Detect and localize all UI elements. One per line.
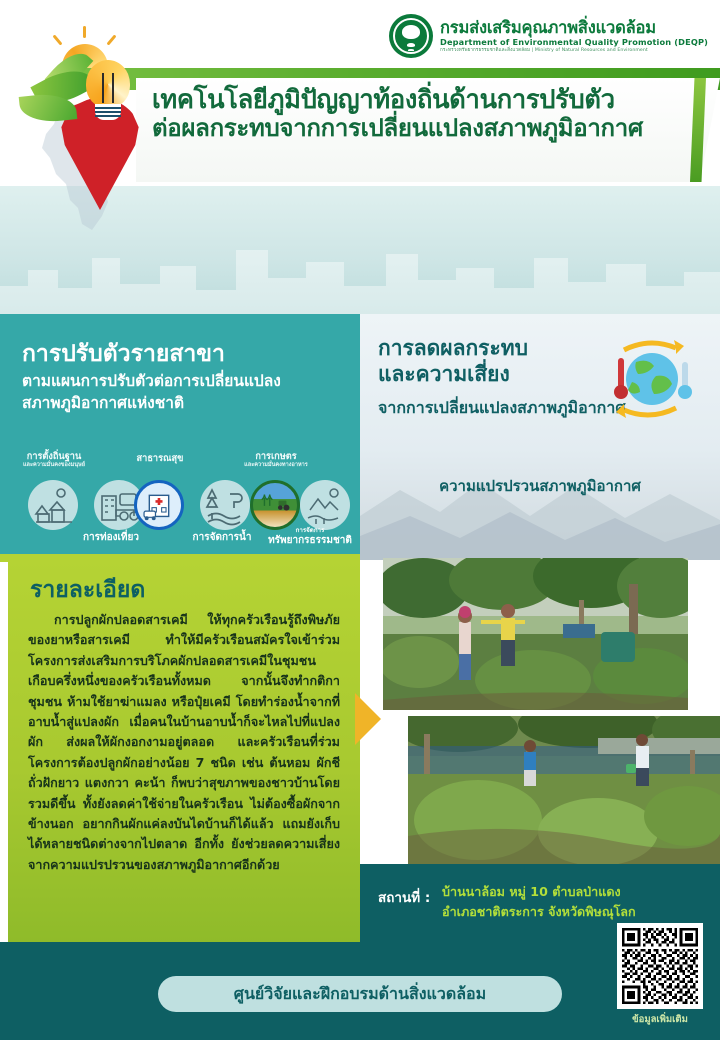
footer-organization-pill[interactable]: ศูนย์วิจัยและฝึกอบรมด้านสิ่งแวดล้อม [158,976,562,1012]
qr-code[interactable] [617,923,703,1009]
deqp-name-thai: กรมส่งเสริมคุณภาพสิ่งแวดล้อม [440,19,708,37]
sector-icons-row: การตั้งถิ่นฐาน และความมั่นคงของมนุษย์ กา… [0,452,360,560]
technology-logo [14,52,174,232]
sector-label-main: การจัดการน้ำ [168,532,276,543]
deqp-name-english: Department of Environmental Quality Prom… [440,38,708,47]
qr-code-caption: ข้อมูลเพิ่มเติม [617,1012,703,1027]
mitigation-panel-heading: การลดผลกระทบ และความเสี่ยง [378,336,528,387]
sector-label-sub: และความมั่นคงของมนุษย์ [4,462,104,468]
city-skyline-graphic [0,228,720,314]
arrow-right-icon [355,693,381,745]
photo-vegetable-garden-villagers [383,558,688,710]
details-panel: รายละเอียด การปลูกผักปลอดสารเคมี ให้ทุกค… [8,560,360,942]
water-management-icon[interactable] [200,480,250,530]
adaptation-panel-subheading: ตามแผนการปรับตัวต่อการเปลี่ยนแปลง สภาพภู… [22,370,352,415]
mitigation-panel: การลดผลกระทบ และความเสี่ยง จากการเปลี่ยน… [360,314,720,560]
mitigation-heading-line1: การลดผลกระทบ [378,336,528,362]
sector-label-natural-resources: การจัดการ ทรัพยากรธรรมชาติ [262,528,358,546]
poster-root: เทคโนโลยีภูมิปัญญาท้องถิ่นด้านการปรับตัว… [0,0,720,1040]
page-title-line2: ต่อผลกระทบจากการเปลี่ยนแปลงสภาพภูมิอากาศ [152,115,692,142]
sector-label-sub: และความมั่นคงทางอาหาร [222,462,330,468]
adaptation-subheading-line2: สภาพภูมิอากาศแห่งชาติ [22,394,184,412]
sector-label-settlement: การตั้งถิ่นฐาน และความมั่นคงของมนุษย์ [4,452,104,468]
mountain-silhouette-graphic [360,450,720,560]
agriculture-icon[interactable] [250,480,300,530]
sector-label-main: การตั้งถิ่นฐาน [4,452,104,462]
location-line2: อำเภอชาติตระการ จังหวัดพิษณุโลก [442,904,636,919]
location-value: บ้านนาล้อม หมู่ 10 ตำบลป่าแดง อำเภอชาติต… [442,882,642,921]
adaptation-subheading-line1: ตามแผนการปรับตัวต่อการเปลี่ยนแปลง [22,372,281,390]
public-health-icon[interactable] [134,480,184,530]
details-body-text: การปลูกผักปลอดสารเคมี ให้ทุกครัวเรือนรู้… [28,610,340,875]
sector-label-water: การจัดการน้ำ [168,532,276,543]
sector-label-tourism: การท่องเที่ยว [56,532,166,543]
sector-label-main: ทรัพยากรธรรมชาติ [262,535,358,546]
footer-organization-label: ศูนย์วิจัยและฝึกอบรมด้านสิ่งแวดล้อม [234,982,486,1007]
globe-thermometer-icon [602,336,698,422]
location-label: สถานที่ : [378,886,430,908]
adaptation-panel-heading: การปรับตัวรายสาขา [22,336,225,372]
location-line1: บ้านนาล้อม หมู่ 10 ตำบลป่าแดง [442,884,621,899]
qr-code-image [622,928,698,1004]
sun-ray-icon [83,26,86,38]
climate-variability-label: ความแปรปรวนสภาพภูมิอากาศ [360,474,720,498]
sector-label-main: การเกษตร [222,452,330,462]
photo-vegetable-plots [408,716,720,864]
page-title-line1: เทคโนโลยีภูมิปัญญาท้องถิ่นด้านการปรับตัว [152,86,692,115]
sector-label-main: การท่องเที่ยว [56,532,166,543]
settlement-icon[interactable] [28,480,78,530]
sun-ray-icon [52,34,62,45]
natural-resources-icon[interactable] [300,480,350,530]
sector-label-agriculture: การเกษตร และความมั่นคงทางอาหาร [222,452,330,468]
deqp-emblem-icon [389,14,433,58]
details-heading: รายละเอียด [30,572,145,608]
deqp-ministry-line: กระทรวงทรัพยากรธรรมชาติและสิ่งแวดล้อม | … [440,48,708,53]
deqp-logo: กรมส่งเสริมคุณภาพสิ่งแวดล้อม Department … [389,14,708,58]
page-title: เทคโนโลยีภูมิปัญญาท้องถิ่นด้านการปรับตัว… [152,86,692,142]
sector-label-sub: การจัดการ [262,528,358,535]
sector-label-public-health: สาธารณสุข [108,454,212,464]
sector-label-main: สาธารณสุข [108,454,212,464]
lightbulb-filament [102,73,114,103]
mitigation-heading-line2: และความเสี่ยง [378,362,528,388]
sun-ray-icon [106,34,116,45]
lightbulb-icon [78,60,136,132]
lightbulb-base [95,104,121,120]
deqp-logo-text: กรมส่งเสริมคุณภาพสิ่งแวดล้อม Department … [440,19,708,53]
